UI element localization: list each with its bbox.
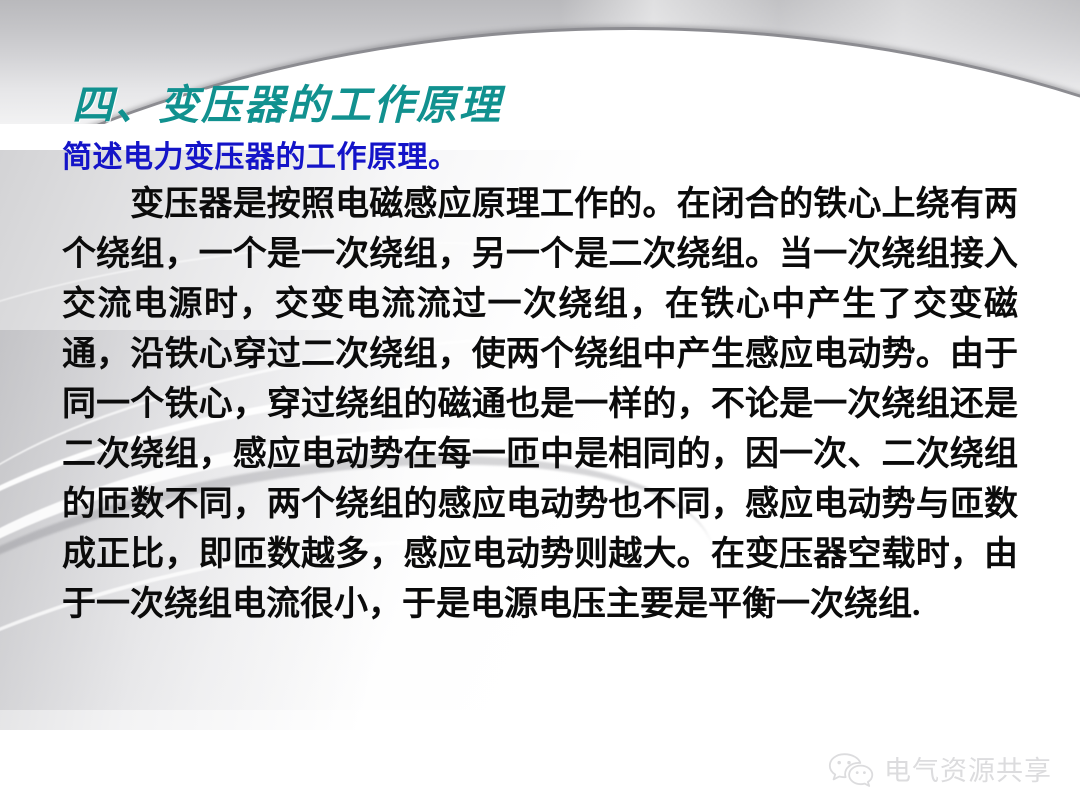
watermark: 电气资源共享 bbox=[828, 749, 1052, 788]
watermark-label: 电气资源共享 bbox=[884, 749, 1052, 788]
page-title: 四、变压器的工作原理 bbox=[72, 71, 502, 131]
wechat-icon bbox=[828, 751, 874, 787]
slide-canvas: 四、变压器的工作原理 简述电力变压器的工作原理。 变压器是按照电磁感应原理工作的… bbox=[0, 0, 1080, 810]
slide-content: 简述电力变压器的工作原理。 变压器是按照电磁感应原理工作的。在闭合的铁心上绕有两… bbox=[0, 132, 1080, 630]
lead-question: 简述电力变压器的工作原理。 bbox=[62, 132, 1080, 176]
body-paragraph: 变压器是按照电磁感应原理工作的。在闭合的铁心上绕有两个绕组，一个是一次绕组，另一… bbox=[0, 180, 1080, 630]
body-paragraph-text: 变压器是按照电磁感应原理工作的。在闭合的铁心上绕有两个绕组，一个是一次绕组，另一… bbox=[62, 186, 1018, 623]
